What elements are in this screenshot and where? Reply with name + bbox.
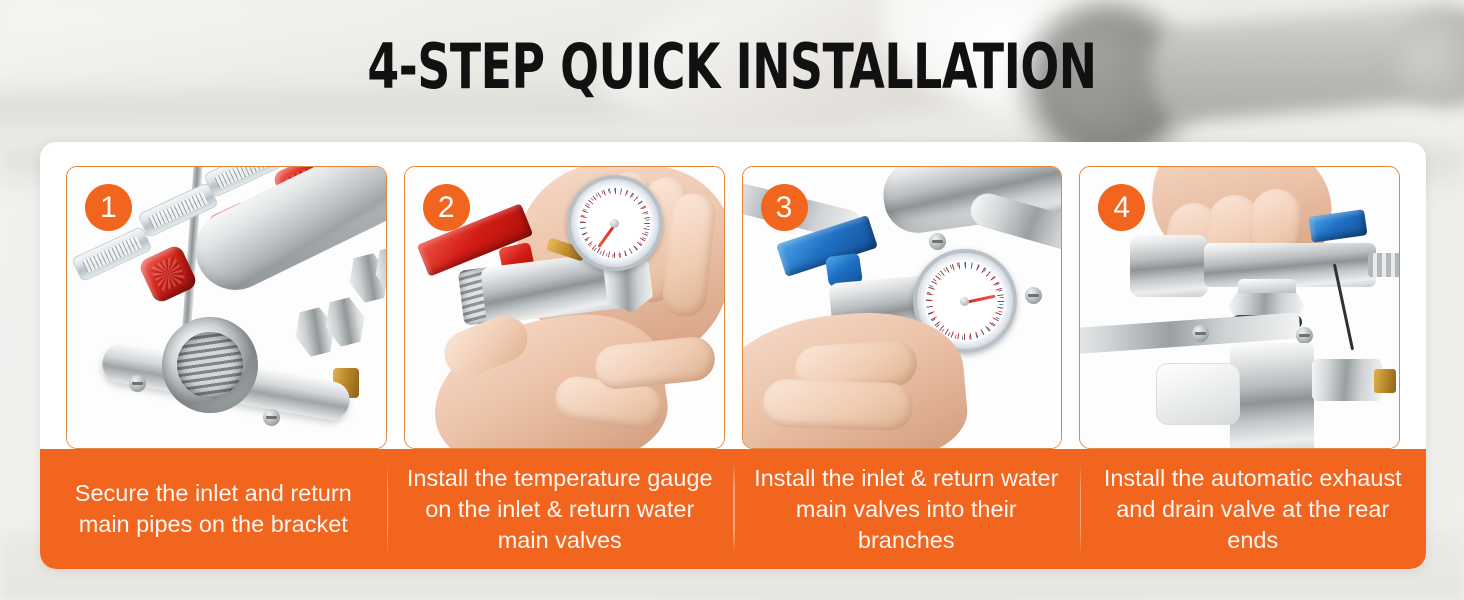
temperature-gauge-icon <box>567 175 663 271</box>
flow-meter-icon <box>71 226 153 283</box>
gauge-dial <box>578 186 652 260</box>
brass-insert-icon <box>1374 369 1396 393</box>
step-badge-3: 3 <box>761 184 808 231</box>
page-title: 4-STEP QUICK INSTALLATION <box>132 34 1332 100</box>
gauge-hub <box>960 297 969 306</box>
automatic-exhaust-valve-icon <box>1130 235 1208 297</box>
finger-icon <box>762 378 914 431</box>
step-panel-4[interactable]: 4 <box>1079 166 1400 449</box>
step-badge-2: 2 <box>423 184 470 231</box>
white-actuator-cap-icon <box>1156 363 1240 425</box>
threaded-collar-icon <box>162 317 258 413</box>
gauge-hub <box>610 219 619 228</box>
step-caption-1: Secure the inlet and return main pipes o… <box>40 449 387 569</box>
bracket-screw-icon <box>129 375 146 392</box>
step-caption-2: Install the temperature gauge on the inl… <box>387 449 734 569</box>
step-badge-1: 1 <box>85 184 132 231</box>
caption-bar: Secure the inlet and return main pipes o… <box>40 449 1426 569</box>
step-caption-3: Install the inlet & return water main va… <box>733 449 1080 569</box>
gauge-screw-icon <box>929 233 946 250</box>
step-badge-4: 4 <box>1098 184 1145 231</box>
installation-steps-infographic: 4-STEP QUICK INSTALLATION <box>0 0 1464 600</box>
step-panel-3[interactable]: 3 <box>742 166 1063 449</box>
steps-card: 1 <box>40 142 1426 569</box>
manifold-end-body-icon <box>1230 343 1314 448</box>
drain-hose-connector-icon <box>1368 253 1399 277</box>
step-panel-2[interactable]: 2 <box>404 166 725 449</box>
step-panel-1[interactable]: 1 <box>66 166 387 449</box>
strap-screw-icon <box>1296 327 1313 344</box>
bracket-screw-icon <box>263 409 280 426</box>
step-caption-4: Install the automatic exhaust and drain … <box>1080 449 1427 569</box>
side-fitting-icon <box>1312 359 1382 401</box>
step-image-panels: 1 <box>40 142 1426 449</box>
bracket-screw-icon <box>1025 287 1042 304</box>
